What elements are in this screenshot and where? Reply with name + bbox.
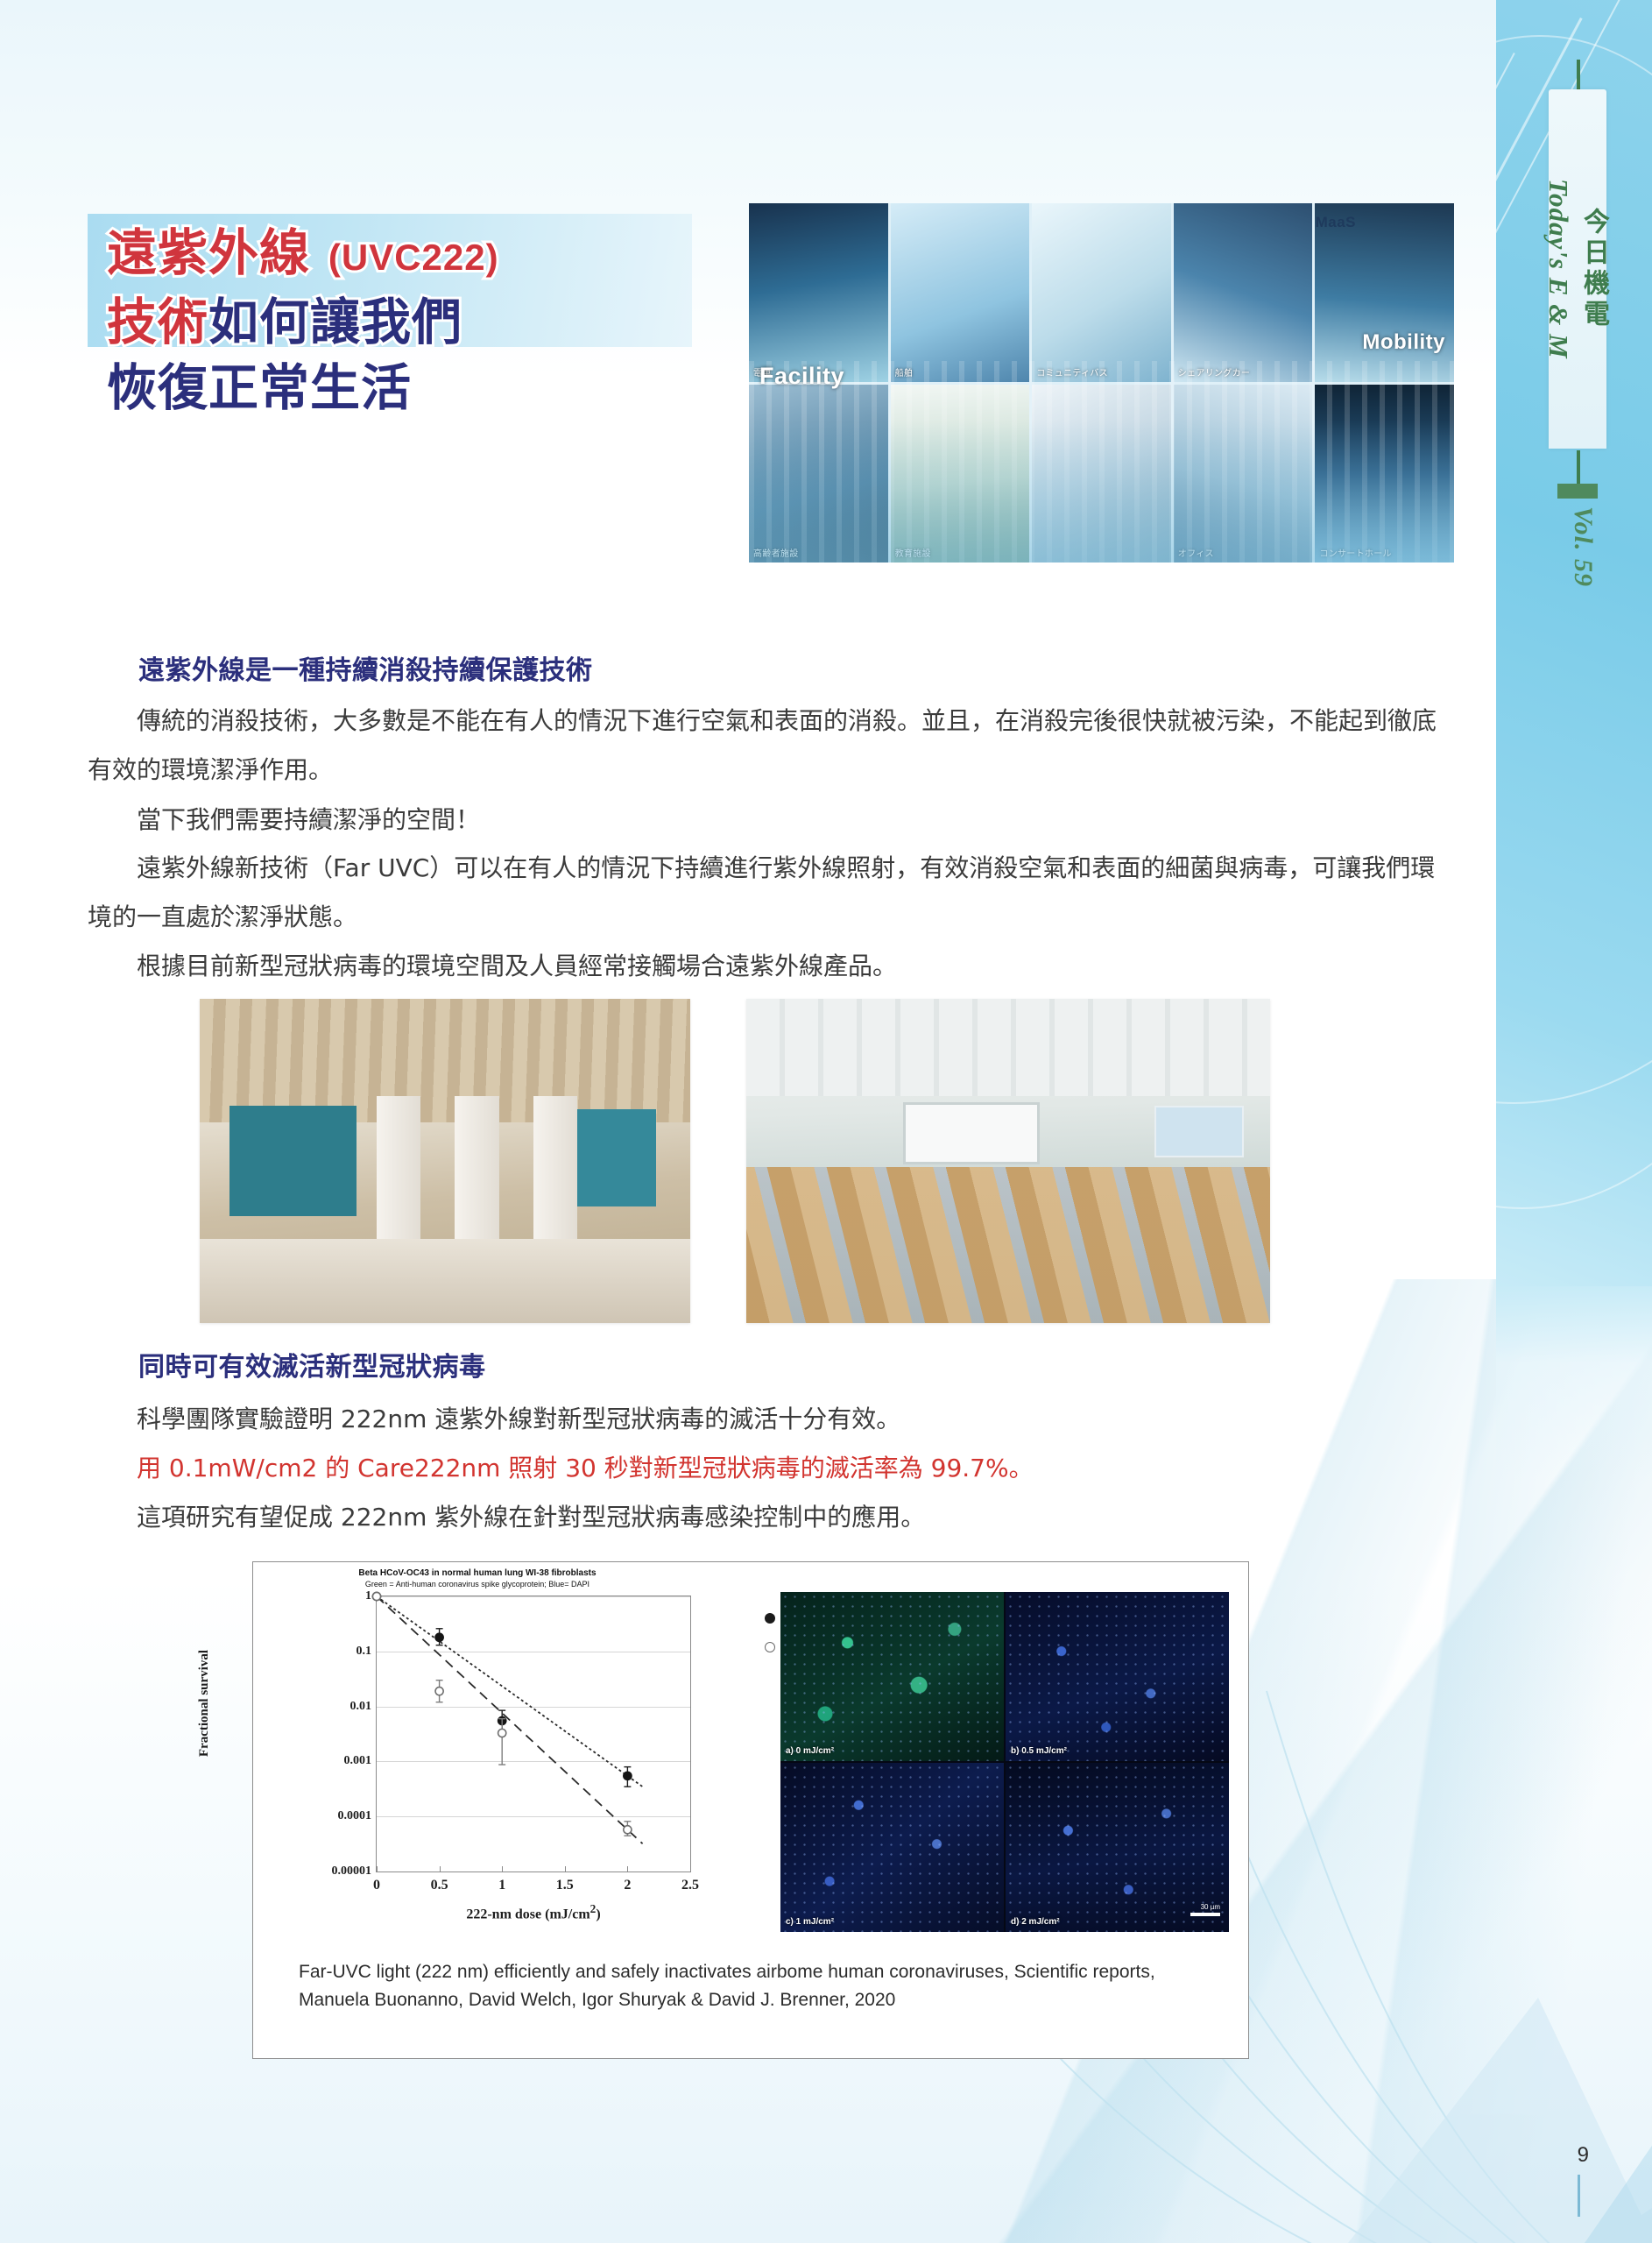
micrograph-title-line1: Beta HCoV-OC43 in normal human lung WI-3… [253, 1567, 702, 1579]
chart-xtick-1: 0.5 [431, 1878, 448, 1893]
section1-paragraph-2: 當下我們需要持續潔淨的空間！ [88, 796, 1437, 845]
ward-teal-wall-left [229, 1106, 357, 1216]
ward-ceiling [200, 999, 690, 1122]
collage-cell-tram: 電車 [749, 203, 888, 382]
page-number-rule [1578, 2175, 1580, 2217]
ward-curtain-2 [455, 1096, 498, 1252]
section1-heading: 遠紫外線是一種持續消殺持續保護技術 [138, 648, 593, 687]
micrograph-panel-label-2: c) 1 mJ/cm² [786, 1917, 834, 1927]
chart-xtick-4: 2 [624, 1878, 631, 1893]
classroom-world-map [1154, 1106, 1244, 1157]
masthead-title-en: Today's E & M [1543, 179, 1574, 359]
micrograph-title-line2: Green = Anti-human coronavirus spike gly… [253, 1579, 702, 1590]
hero-title-line-3: 恢復正常生活 [107, 356, 702, 421]
section2-paragraph-3: 這項研究有望促成 222nm 紫外線在針對型冠狀病毒感染控制中的應用。 [88, 1493, 1437, 1542]
section1-paragraph-3: 遠紫外線新技術（Far UVC）可以在有人的情況下持續進行紫外線照射，有效消殺空… [88, 844, 1437, 942]
hero-title-line2-red: 技術 [107, 294, 208, 351]
classroom-whiteboard [903, 1102, 1039, 1164]
tab-rule-top [1577, 60, 1580, 93]
page-number: 9 [1578, 2143, 1589, 2168]
chart-xtick-0: 0 [373, 1878, 380, 1893]
micrograph-scalebar [1190, 1913, 1220, 1916]
micrograph-scalebar-label: 30 µm [1201, 1903, 1220, 1911]
hero-title-line1-paren: (UVC222) [328, 237, 499, 278]
ward-curtain-1 [377, 1096, 420, 1252]
open-circle-icon [765, 1642, 775, 1652]
micrograph-panel-b: b) 0.5 mJ/cm² [1006, 1592, 1229, 1761]
section2-paragraph-1: 科學團隊實驗證明 222nm 遠紫外線對新型冠狀病毒的滅活十分有效。 [88, 1395, 1437, 1444]
section2-paragraph-2-highlight: 用 0.1mW/cm2 的 Care222nm 照射 30 秒對新型冠狀病毒的滅… [88, 1444, 1437, 1493]
figure-caption: Far-UVC light (222 nm) efficiently and s… [299, 1958, 1175, 2014]
photo-hospital-ward [200, 999, 690, 1323]
ward-curtain-3 [533, 1096, 577, 1252]
hero-title-line1-red: 遠紫外線 [107, 224, 310, 282]
chart-x-axis-label: 222-nm dose (mJ/cm2) [376, 1902, 691, 1922]
micrograph-panel-label-0: a) 0 mJ/cm² [786, 1746, 834, 1756]
chart-ytick-5: 0.00001 [332, 1864, 372, 1879]
chart-ytick-1: 0.1 [357, 1645, 372, 1659]
photo-classroom [746, 999, 1270, 1323]
chart-ytick-4: 0.0001 [338, 1809, 372, 1823]
chart-data-layer [377, 1596, 690, 1872]
micrograph-title: Beta HCoV-OC43 in normal human lung WI-3… [253, 1567, 702, 1590]
chart-xtick-5: 2.5 [681, 1878, 699, 1893]
chart-y-axis-label: Fractional survival [197, 1650, 212, 1757]
hero-title-line2-navy: 如何讓我們 [208, 294, 462, 351]
micrograph-image: a) 0 mJ/cm² b) 0.5 mJ/cm² c) 1 mJ/cm² d)… [780, 1592, 1229, 1932]
micrograph-panel-label-3: d) 2 mJ/cm² [1011, 1917, 1060, 1927]
section2-heading: 同時可有效滅活新型冠狀病毒 [138, 1345, 486, 1383]
chart-xtick-2: 1 [498, 1878, 505, 1893]
ward-floor [200, 1239, 690, 1323]
micrograph-panel-a: a) 0 mJ/cm² [780, 1592, 1004, 1761]
collage-cell-sharing-car: シェアリングカー [1174, 203, 1313, 382]
chart-ytick-2: 0.01 [350, 1700, 372, 1714]
volume-label: Vol. 59 [1568, 506, 1598, 587]
hero-title-line-2: 技術如何讓我們 [107, 290, 702, 356]
collage-mobility-label: Mobility [1362, 330, 1445, 355]
collage-city-overlay [749, 361, 1454, 563]
collage-cell-ship: 船舶 [891, 203, 1030, 382]
sky-strip-fade [1496, 1286, 1652, 1479]
micrograph-panel-c: c) 1 mJ/cm² [780, 1763, 1004, 1932]
collage-maas-label: MaaS [1316, 214, 1356, 231]
classroom-desks [746, 1167, 1270, 1323]
masthead-title-cn: 今日機電 [1574, 208, 1613, 330]
section1-paragraph-1: 傳統的消殺技術，大多數是不能在有人的情況下進行空氣和表面的消殺。並且，在消殺完後… [88, 697, 1437, 795]
tab-rule-bottom [1577, 450, 1580, 487]
section1-paragraph-4: 根據目前新型冠狀病毒的環境空間及人員經常接觸場合遠紫外線產品。 [88, 942, 1437, 991]
classroom-ceiling [746, 999, 1270, 1096]
chart-ytick-3: 0.001 [344, 1754, 372, 1768]
micrograph-panel-d: d) 2 mJ/cm² 30 µm [1006, 1763, 1229, 1932]
chart-ytick-0: 1 [365, 1589, 371, 1603]
figure-panel: Fractional survival 1 0.1 0.01 0.001 0.0… [252, 1561, 1249, 2059]
hero-title: 遠紫外線 (UVC222) 技術如何讓我們 恢復正常生活 [107, 221, 702, 421]
tab-rule-cap [1557, 484, 1598, 499]
magazine-masthead-tab: Today's E & M 今日機電 [1549, 89, 1606, 449]
survival-chart: Fractional survival 1 0.1 0.01 0.001 0.0… [269, 1574, 745, 1934]
chart-plot-area: 1 0.1 0.01 0.001 0.0001 0.00001 0 0.5 1 … [376, 1596, 691, 1872]
collage-facility-label: Facility [759, 363, 844, 390]
chart-xtick-3: 1.5 [556, 1878, 574, 1893]
filled-circle-icon [765, 1613, 775, 1624]
collage-cell-community-bus: コミュニティバス [1032, 203, 1171, 382]
hero-title-line3-navy: 恢復正常生活 [107, 359, 412, 417]
hero-collage-image: 電車 船舶 コミュニティバス シェアリングカー 高齢者施設 教育施設 オフィス … [749, 203, 1454, 563]
hero-title-line-1: 遠紫外線 (UVC222) [107, 221, 702, 290]
micrograph-panel-label-1: b) 0.5 mJ/cm² [1011, 1746, 1067, 1756]
